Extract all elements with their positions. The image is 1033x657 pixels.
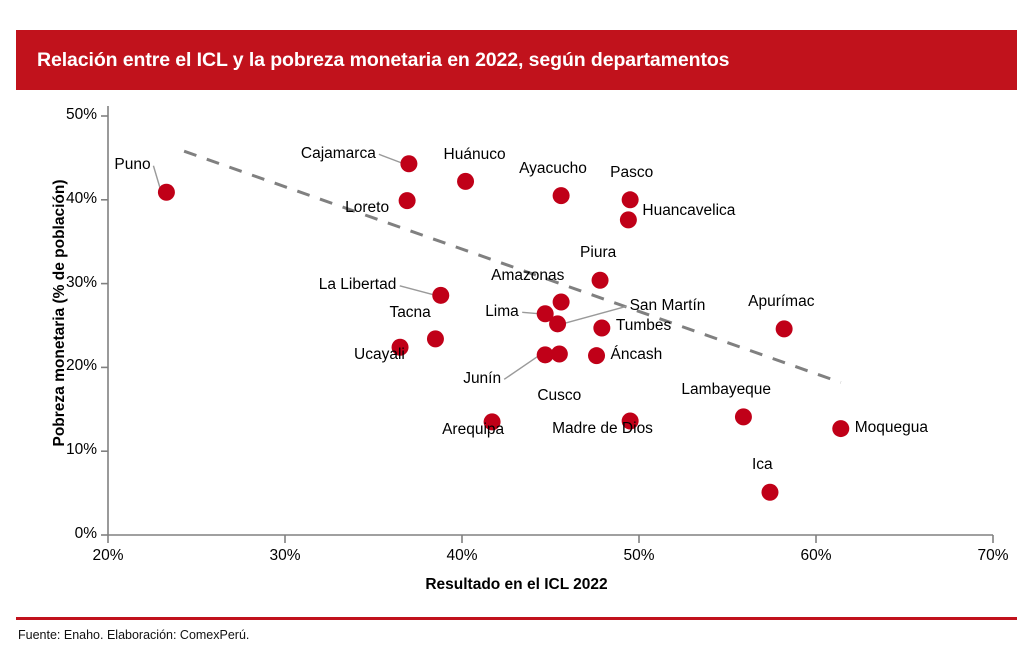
data-point-label: Apurímac [748,293,814,311]
data-point-label: Junín [463,370,501,388]
data-point-label: Tacna [389,304,430,322]
data-point[interactable] [399,192,416,209]
data-point[interactable] [457,173,474,190]
data-point[interactable] [620,211,637,228]
data-point-label: Tumbes [616,317,671,335]
data-point[interactable] [553,294,570,311]
x-axis-tick-label: 60% [781,547,851,565]
data-point-label: Cajamarca [301,145,376,163]
data-point-label: Lambayeque [681,381,771,399]
title-banner: Relación entre el ICL y la pobreza monet… [16,30,1017,90]
data-point[interactable] [592,272,609,289]
data-point-label: Ica [752,456,773,474]
footer-divider [16,617,1017,620]
data-point[interactable] [432,287,449,304]
data-point-label: Madre de Dios [552,420,653,438]
data-point[interactable] [593,320,610,337]
label-leader-line [400,286,436,296]
y-axis-tick-label: 50% [37,106,97,124]
data-point-label: Áncash [611,346,663,364]
label-leader-line [504,355,540,380]
data-point[interactable] [400,155,417,172]
data-point[interactable] [832,420,849,437]
y-axis-tick-label: 10% [37,441,97,459]
scatter-chart: Pobreza monetaria (% de población) Resul… [0,90,1033,595]
data-point-label: Moquegua [855,419,928,437]
data-point-label: Piura [580,244,616,262]
data-point-label: Huancavelica [642,202,735,220]
y-axis-tick-label: 30% [37,274,97,292]
data-point-label: Ayacucho [519,160,587,178]
data-point[interactable] [776,320,793,337]
data-point-label: Cusco [537,387,581,405]
y-axis-tick-label: 40% [37,190,97,208]
x-axis-title: Resultado en el ICL 2022 [0,576,1033,594]
data-point-label: Pasco [610,164,653,182]
source-note: Fuente: Enaho. Elaboración: ComexPerú. [18,628,249,642]
x-axis-tick-label: 20% [73,547,143,565]
data-point-label: San Martín [630,297,706,315]
data-point[interactable] [588,347,605,364]
data-point[interactable] [761,484,778,501]
chart-page: Relación entre el ICL y la pobreza monet… [0,0,1033,657]
data-point-label: Loreto [345,199,389,217]
data-point-label: Puno [114,156,150,174]
data-point[interactable] [551,345,568,362]
data-point-label: Huánuco [444,146,506,164]
data-point-label: Arequipa [442,421,504,439]
y-axis-tick-label: 0% [37,525,97,543]
data-point-label: La Libertad [319,276,397,294]
data-point[interactable] [549,315,566,332]
y-axis-tick-label: 20% [37,357,97,375]
data-point[interactable] [735,408,752,425]
label-leader-line [379,154,404,164]
x-axis-tick-label: 50% [604,547,674,565]
page-title: Relación entre el ICL y la pobreza monet… [16,49,729,72]
plot-canvas [0,90,1033,595]
x-axis-tick-label: 40% [427,547,497,565]
x-axis-tick-label: 70% [958,547,1028,565]
data-point-label: Amazonas [491,267,564,285]
x-axis-tick-label: 30% [250,547,320,565]
data-point-label: Ucayali [354,346,405,364]
data-points-group [158,155,849,500]
data-point[interactable] [622,191,639,208]
y-axis-title: Pobreza monetaria (% de población) [51,103,69,523]
data-point[interactable] [553,187,570,204]
data-point[interactable] [427,330,444,347]
data-point-label: Lima [485,303,519,321]
data-point[interactable] [158,184,175,201]
